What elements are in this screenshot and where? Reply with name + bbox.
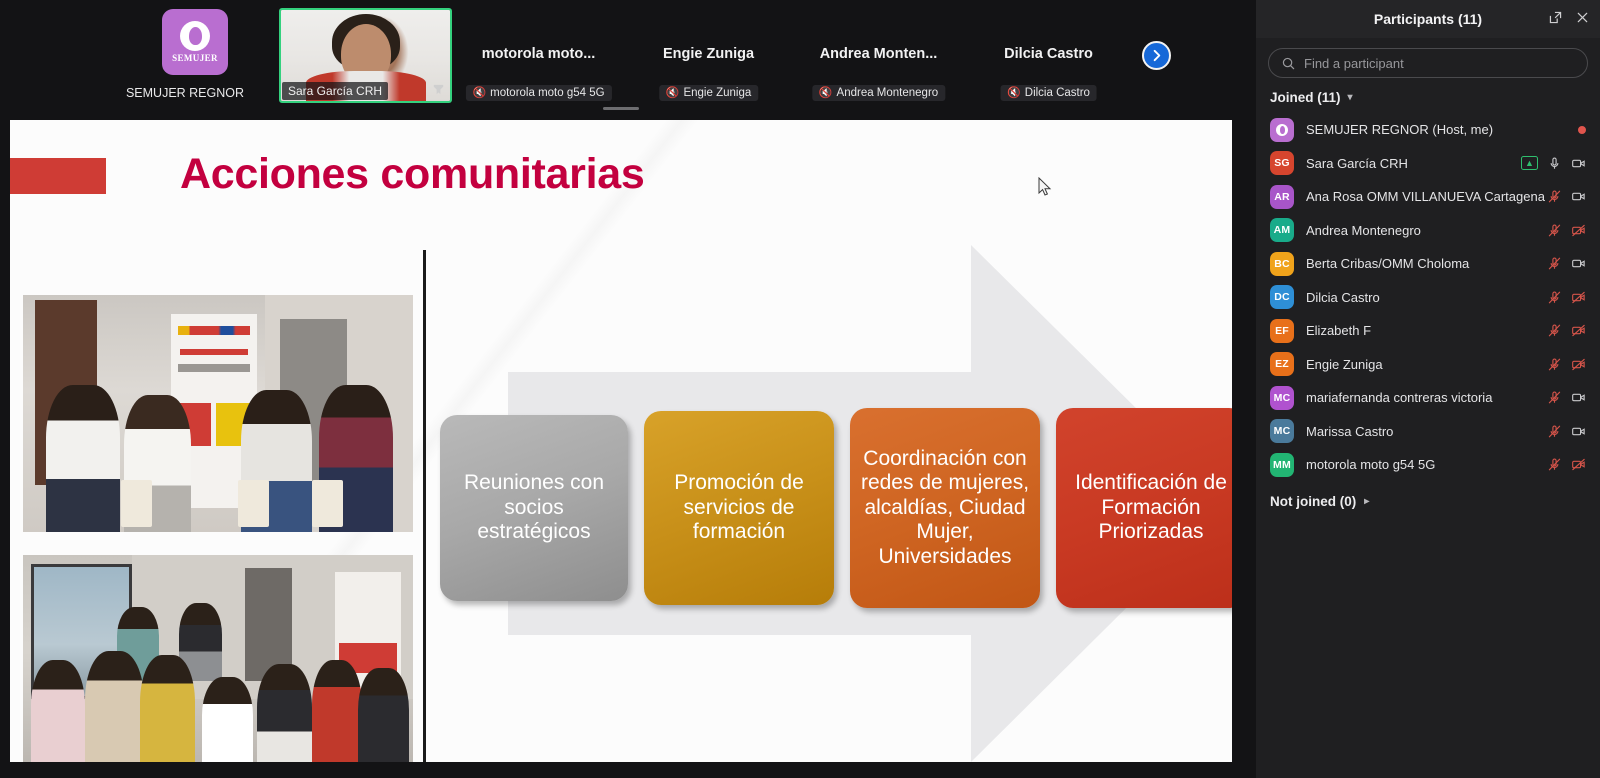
camera-off-icon — [1571, 457, 1586, 472]
filmstrip-tile-badge: 🔇 Dilcia Castro — [1000, 85, 1097, 101]
photo-person — [358, 668, 409, 762]
participant-row[interactable]: EFElizabeth F — [1256, 314, 1600, 348]
camera-on-icon — [1571, 424, 1586, 439]
semujer-logo-word: SEMUJER — [172, 53, 218, 63]
banner-logo-row — [178, 326, 250, 336]
mic-off-icon[interactable] — [1547, 357, 1562, 372]
filmstrip-tile-badge-label: Engie Zuniga — [683, 87, 751, 99]
search-input[interactable] — [1304, 56, 1575, 71]
chevron-right-icon: ▸ — [1364, 496, 1369, 507]
avatar: BC — [1270, 252, 1294, 276]
participant-name: Andrea Montenegro — [1306, 223, 1547, 238]
camera-off-icon[interactable] — [1571, 357, 1586, 372]
participant-row[interactable]: SGSara García CRH▲ — [1256, 147, 1600, 181]
camera-on-icon — [1571, 156, 1586, 171]
mic-off-icon — [1547, 457, 1562, 472]
slide-photo-group — [23, 295, 413, 532]
participant-row[interactable]: DCDilcia Castro — [1256, 281, 1600, 315]
participant-status-icons — [1547, 424, 1586, 439]
mic-off-icon[interactable] — [1547, 223, 1562, 238]
participant-name: Dilcia Castro — [1306, 290, 1547, 305]
filmstrip-tile-active-speaker[interactable]: Sara García CRH — [279, 8, 452, 103]
mic-off-icon — [1547, 357, 1562, 372]
mic-off-icon — [1547, 256, 1562, 271]
process-box-4: Identificación de Formación Priorizadas — [1056, 408, 1232, 608]
avatar: EZ — [1270, 352, 1294, 376]
participants-panel-title: Participants (11) — [1374, 11, 1482, 27]
close-icon[interactable] — [1575, 10, 1590, 25]
mic-off-icon[interactable] — [1547, 424, 1562, 439]
mic-off-icon — [1547, 223, 1562, 238]
popout-icon[interactable] — [1548, 10, 1563, 25]
filmstrip-tile-title: Engie Zuniga — [622, 46, 795, 62]
filmstrip-tile-3[interactable]: Andrea Monten... 🔇 Andrea Montenegro — [792, 8, 965, 103]
camera-on-icon — [1571, 189, 1586, 204]
photo-person — [202, 677, 253, 762]
avatar: DC — [1270, 285, 1294, 309]
participants-panel-header: Participants (11) — [1256, 0, 1600, 38]
participant-status-icons — [1547, 390, 1586, 405]
mic-off-icon[interactable] — [1547, 457, 1562, 472]
mic-off-icon[interactable] — [1547, 290, 1562, 305]
filmstrip-tile-2[interactable]: Engie Zuniga 🔇 Engie Zuniga — [622, 8, 795, 103]
filmstrip-tile-title: Andrea Monten... — [792, 46, 965, 62]
photo-tote-bag — [312, 480, 343, 527]
active-speaker-label: Sara García CRH — [282, 82, 388, 100]
participant-filmstrip: SEMUJER SEMUJER REGNOR Sara García CRH m… — [0, 0, 1256, 112]
slide-vertical-divider — [423, 250, 426, 762]
screen-share-icon: ▲ — [1521, 156, 1538, 170]
meeting-window: SEMUJER SEMUJER REGNOR Sara García CRH m… — [0, 0, 1600, 778]
camera-on-icon[interactable] — [1571, 390, 1586, 405]
filmstrip-tile-1[interactable]: motorola moto... 🔇 motorola moto g54 5G — [452, 8, 625, 103]
participant-status-icons — [1547, 323, 1586, 338]
chevron-down-icon: ▾ — [1348, 92, 1353, 103]
participants-list: SEMUJER REGNOR (Host, me)SGSara García C… — [1256, 113, 1600, 482]
participant-name: Sara García CRH — [1306, 156, 1521, 171]
participant-row[interactable]: BCBerta Cribas/OMM Choloma — [1256, 247, 1600, 281]
avatar: SG — [1270, 151, 1294, 175]
mic-off-icon[interactable] — [1547, 189, 1562, 204]
not-joined-label: Not joined (0) — [1270, 494, 1356, 509]
camera-on-icon — [1571, 390, 1586, 405]
participant-name: Berta Cribas/OMM Choloma — [1306, 256, 1547, 271]
photo-person — [85, 651, 144, 762]
mic-off-icon — [1547, 390, 1562, 405]
participant-row[interactable]: ARAna Rosa OMM VILLANUEVA Cartagena — [1256, 180, 1600, 214]
mic-off-icon: 🔇 — [1007, 88, 1021, 99]
participant-name: Ana Rosa OMM VILLANUEVA Cartagena — [1306, 189, 1547, 204]
slide-accent-tab — [10, 158, 106, 194]
filmstrip-tile-semujer[interactable]: SEMUJER SEMUJER REGNOR — [110, 8, 260, 103]
filmstrip-tile-label: SEMUJER REGNOR — [110, 86, 260, 100]
camera-on-icon[interactable] — [1571, 256, 1586, 271]
filmstrip-next-button[interactable] — [1142, 41, 1171, 70]
participant-name: motorola moto g54 5G — [1306, 457, 1547, 472]
participant-name: SEMUJER REGNOR (Host, me) — [1306, 122, 1578, 137]
filmstrip-tile-badge-label: Andrea Montenegro — [837, 87, 939, 99]
camera-off-icon[interactable] — [1571, 290, 1586, 305]
participant-status-icons: ▲ — [1521, 156, 1586, 171]
camera-off-icon[interactable] — [1571, 323, 1586, 338]
participant-row[interactable]: MCmariafernanda contreras victoria — [1256, 381, 1600, 415]
joined-group-header[interactable]: Joined (11) ▾ — [1256, 84, 1600, 113]
avatar: EF — [1270, 319, 1294, 343]
mic-off-icon: 🔇 — [472, 88, 486, 99]
camera-off-icon[interactable] — [1571, 223, 1586, 238]
mic-off-icon: 🔇 — [819, 88, 833, 99]
participant-row[interactable]: MCMarissa Castro — [1256, 415, 1600, 449]
avatar: AR — [1270, 185, 1294, 209]
participant-status-icons — [1547, 189, 1586, 204]
mic-off-icon[interactable] — [1547, 256, 1562, 271]
avatar — [1270, 118, 1294, 142]
participant-status-icons — [1547, 357, 1586, 372]
process-box-1: Reuniones con socios estratégicos — [440, 415, 628, 601]
filmstrip-tile-4[interactable]: Dilcia Castro 🔇 Dilcia Castro — [962, 8, 1135, 103]
photo-person — [140, 655, 195, 762]
camera-off-icon[interactable] — [1571, 457, 1586, 472]
filmstrip-tile-badge: 🔇 Andrea Montenegro — [812, 85, 945, 101]
participant-status-icons — [1578, 126, 1586, 134]
mic-on-icon — [1547, 156, 1562, 171]
not-joined-group-header[interactable]: Not joined (0) ▸ — [1256, 482, 1600, 521]
banner-subtext — [178, 364, 250, 372]
joined-group-label: Joined (11) — [1270, 90, 1341, 105]
banner-headline — [180, 349, 249, 355]
chevron-right-icon — [1149, 48, 1164, 63]
participant-search-box[interactable] — [1268, 48, 1588, 78]
participant-row[interactable]: MMmotorola moto g54 5G — [1256, 448, 1600, 482]
filmstrip-tile-title: Dilcia Castro — [962, 46, 1135, 62]
filmstrip-tile-badge: 🔇 Engie Zuniga — [659, 85, 758, 101]
photo-person — [31, 660, 86, 762]
slide-title: Acciones comunitarias — [180, 150, 644, 199]
participant-name: Engie Zuniga — [1306, 357, 1547, 372]
avatar: AM — [1270, 218, 1294, 242]
mic-off-icon[interactable] — [1547, 390, 1562, 405]
photo-person — [46, 385, 120, 532]
participant-name: Elizabeth F — [1306, 323, 1547, 338]
mic-off-icon — [1547, 323, 1562, 338]
filmstrip-scrollbar[interactable] — [603, 107, 639, 110]
avatar: MC — [1270, 419, 1294, 443]
participant-status-icons — [1547, 223, 1586, 238]
participant-name: Marissa Castro — [1306, 424, 1547, 439]
recording-indicator-icon — [1578, 126, 1586, 134]
search-icon — [1281, 56, 1296, 71]
camera-on-icon[interactable] — [1571, 156, 1586, 171]
mic-off-icon — [1547, 290, 1562, 305]
participants-panel: Participants (11) — [1256, 0, 1600, 778]
camera-off-icon — [1571, 223, 1586, 238]
mic-off-icon[interactable] — [1547, 323, 1562, 338]
mic-off-icon — [1547, 189, 1562, 204]
mic-off-icon: 🔇 — [666, 88, 680, 99]
camera-on-icon[interactable] — [1571, 189, 1586, 204]
process-box-3: Coordinación con redes de mujeres, alcal… — [850, 408, 1040, 608]
camera-off-icon — [1571, 357, 1586, 372]
pin-icon[interactable] — [431, 82, 446, 97]
participant-status-icons — [1547, 256, 1586, 271]
semujer-logo: SEMUJER — [162, 9, 228, 75]
filmstrip-tile-badge: 🔇 motorola moto g54 5G — [465, 85, 611, 101]
photo-person — [257, 664, 312, 762]
semujer-logo-icon — [180, 21, 210, 51]
participant-row[interactable]: AMAndrea Montenegro — [1256, 214, 1600, 248]
participant-search-wrapper — [1256, 38, 1600, 84]
camera-on-icon[interactable] — [1571, 424, 1586, 439]
shared-slide: Acciones comunitarias — [10, 120, 1232, 762]
participant-row[interactable]: SEMUJER REGNOR (Host, me) — [1256, 113, 1600, 147]
participant-name: mariafernanda contreras victoria — [1306, 390, 1547, 405]
photo-tote-bag — [121, 480, 152, 527]
participant-status-icons — [1547, 290, 1586, 305]
photo-person — [312, 660, 363, 762]
camera-off-icon — [1571, 290, 1586, 305]
filmstrip-tile-badge-label: Dilcia Castro — [1025, 87, 1090, 99]
slide-photo-meeting — [23, 555, 413, 762]
mic-off-icon — [1547, 424, 1562, 439]
avatar: MM — [1270, 453, 1294, 477]
photo-tote-bag — [238, 480, 269, 527]
mic-on-icon[interactable] — [1547, 156, 1562, 171]
avatar: MC — [1270, 386, 1294, 410]
participant-status-icons — [1547, 457, 1586, 472]
meeting-stage: SEMUJER SEMUJER REGNOR Sara García CRH m… — [0, 0, 1256, 778]
participant-row[interactable]: EZEngie Zuniga — [1256, 348, 1600, 382]
filmstrip-tile-badge-label: motorola moto g54 5G — [490, 87, 604, 99]
filmstrip-tile-title: motorola moto... — [452, 46, 625, 62]
process-box-2: Promoción de servicios de formación — [644, 411, 834, 605]
camera-on-icon — [1571, 256, 1586, 271]
camera-off-icon — [1571, 323, 1586, 338]
